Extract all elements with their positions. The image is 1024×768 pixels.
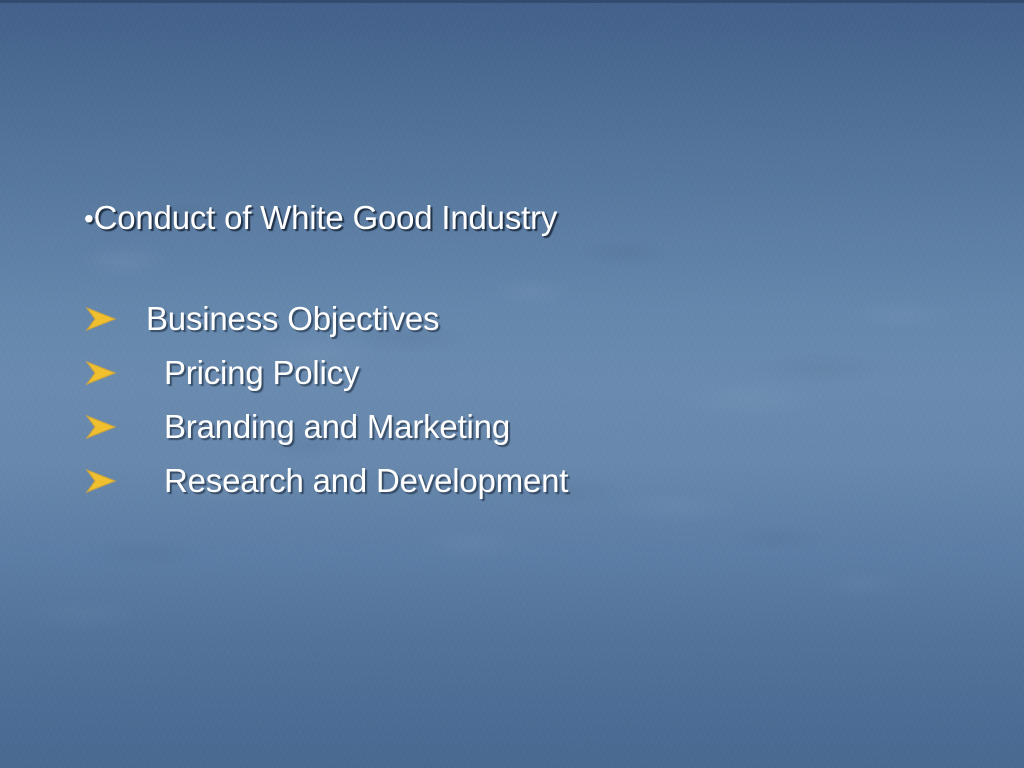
arrow-bullet-icon	[84, 411, 118, 443]
bullet-list: Business Objectives Pricing Policy Brand…	[84, 292, 944, 508]
title-text: Conduct of White Good Industry	[94, 199, 558, 236]
list-item-label: Branding and Marketing	[120, 407, 510, 447]
list-item: Pricing Policy	[84, 346, 944, 400]
list-item: Business Objectives	[84, 292, 944, 346]
list-item: Research and Development	[84, 454, 944, 508]
title-bullet-icon: •	[84, 203, 94, 234]
list-item-label: Business Objectives	[120, 299, 439, 339]
arrow-bullet-icon	[84, 303, 118, 335]
list-item: Branding and Marketing	[84, 400, 944, 454]
presentation-slide: •Conduct of White Good Industry Business…	[0, 0, 1024, 768]
list-item-label: Pricing Policy	[120, 353, 359, 393]
arrow-bullet-icon	[84, 465, 118, 497]
list-item-label: Research and Development	[120, 461, 568, 501]
slide-content: •Conduct of White Good Industry Business…	[0, 0, 1024, 768]
arrow-bullet-icon	[84, 357, 118, 389]
slide-title: •Conduct of White Good Industry	[84, 198, 557, 239]
